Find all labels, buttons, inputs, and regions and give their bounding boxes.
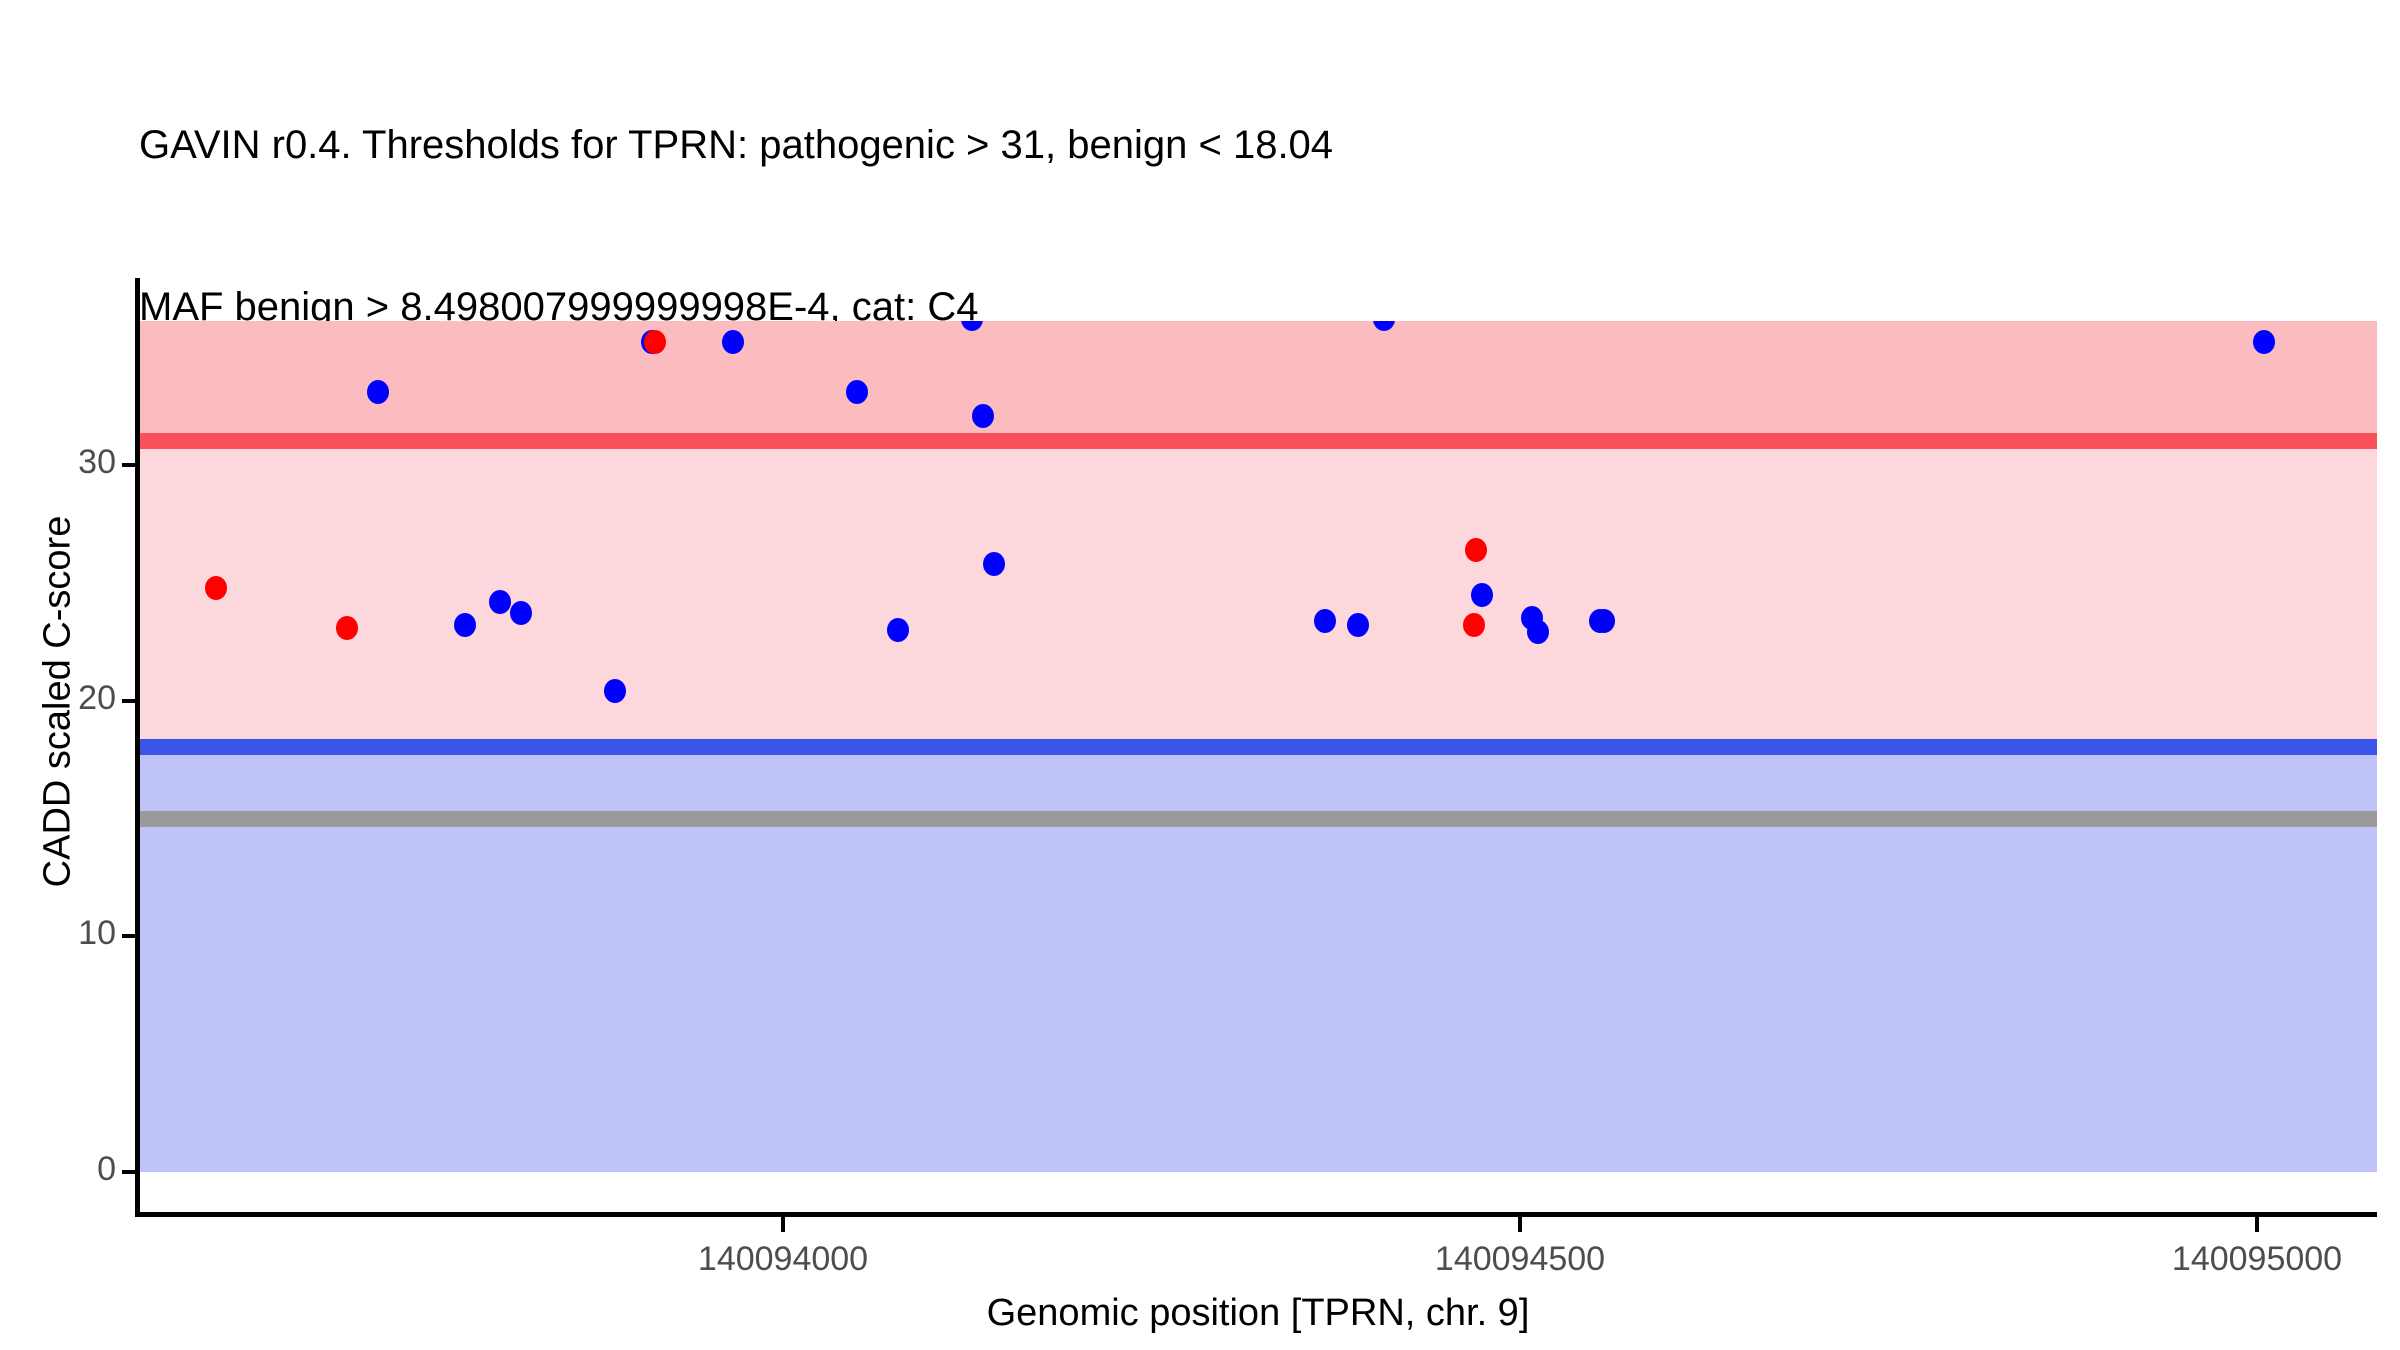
data-point <box>510 601 532 625</box>
x-axis-tick-label: 140094000 <box>698 1240 868 1279</box>
data-point <box>336 616 358 640</box>
vous-band <box>139 449 2377 754</box>
data-point <box>604 679 626 703</box>
y-axis-tick <box>122 1170 136 1174</box>
data-point <box>644 330 666 354</box>
y-axis-tick-label: 0 <box>30 1150 116 1189</box>
data-point <box>1347 613 1369 637</box>
benign-threshold-line <box>139 739 2377 755</box>
x-axis-tick <box>1518 1217 1522 1232</box>
y-axis-tick <box>122 934 136 938</box>
data-point <box>1465 538 1487 562</box>
data-point <box>887 618 909 642</box>
plot-panel <box>139 321 2377 1172</box>
x-axis-tick-label: 140095000 <box>2172 1240 2342 1279</box>
data-point <box>489 590 511 614</box>
data-point <box>1527 620 1549 644</box>
data-point <box>454 613 476 637</box>
y-axis-line <box>135 278 140 1214</box>
pathogenic-threshold-line <box>139 433 2377 449</box>
x-axis-title: Genomic position [TPRN, chr. 9] <box>139 1292 2377 1335</box>
genome-wide-fallback-line <box>139 811 2377 827</box>
data-point <box>367 380 389 404</box>
data-point <box>1314 609 1336 633</box>
x-axis-tick <box>2255 1217 2259 1232</box>
title-line-1: GAVIN r0.4. Thresholds for TPRN: pathoge… <box>139 118 2239 172</box>
pathogenic-band <box>139 321 2377 449</box>
data-point <box>1463 613 1485 637</box>
data-point <box>1593 609 1615 633</box>
x-axis-tick-label: 140094500 <box>1435 1240 1605 1279</box>
data-point <box>2253 330 2275 354</box>
y-axis-tick <box>122 699 136 703</box>
x-axis-line <box>135 1212 2377 1217</box>
y-axis-title: CADD scaled C-score <box>37 352 80 1052</box>
data-point <box>972 404 994 428</box>
data-point <box>846 380 868 404</box>
x-axis-tick <box>781 1217 785 1232</box>
data-point <box>205 576 227 600</box>
data-point <box>1471 583 1493 607</box>
y-axis-tick <box>122 463 136 467</box>
data-point <box>722 330 744 354</box>
data-point <box>983 552 1005 576</box>
